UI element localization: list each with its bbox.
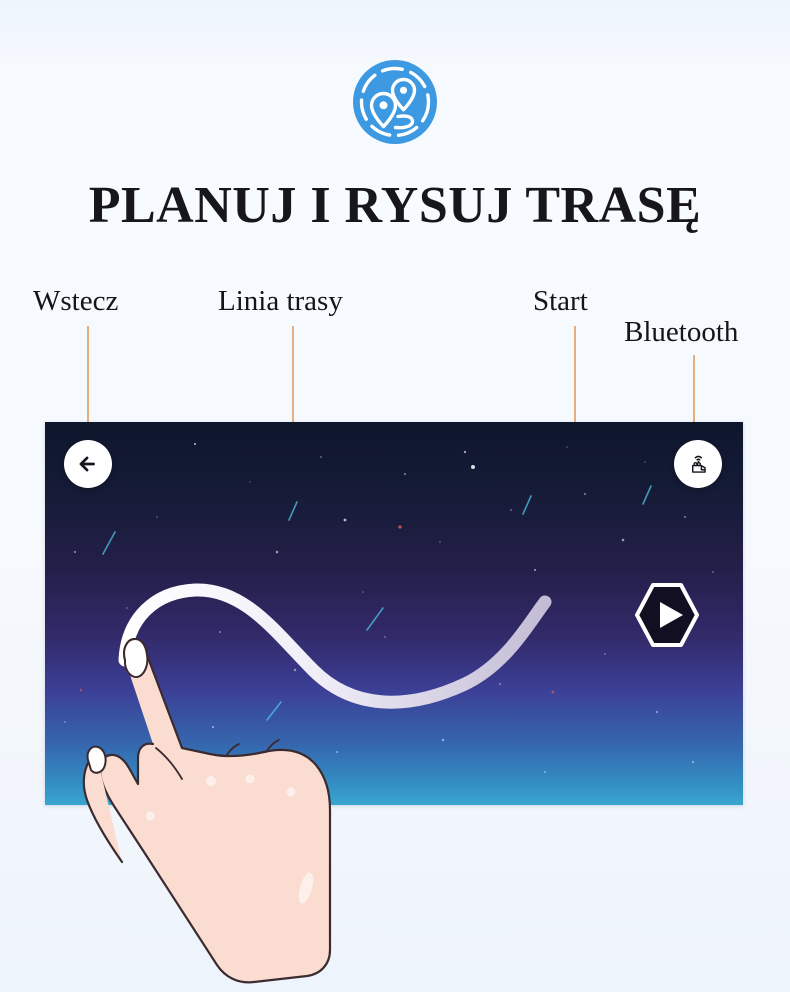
route-map-pins-icon [345,52,445,152]
arrow-left-icon [75,451,101,477]
back-button[interactable] [64,440,112,488]
rc-connect-icon [685,451,712,478]
start-button[interactable] [631,579,703,651]
callout-label-bluetooth: Bluetooth [624,316,738,349]
bluetooth-button[interactable] [674,440,722,488]
device-screen [45,422,743,805]
brand-icon [345,52,445,152]
play-triangle-icon [631,579,703,651]
page-title: PLANUJ I RYSUJ TRASĘ [0,176,790,235]
callout-label-start: Start [533,285,588,318]
callout-label-back: Wstecz [33,285,118,318]
callout-label-route-line: Linia trasy [218,285,343,318]
